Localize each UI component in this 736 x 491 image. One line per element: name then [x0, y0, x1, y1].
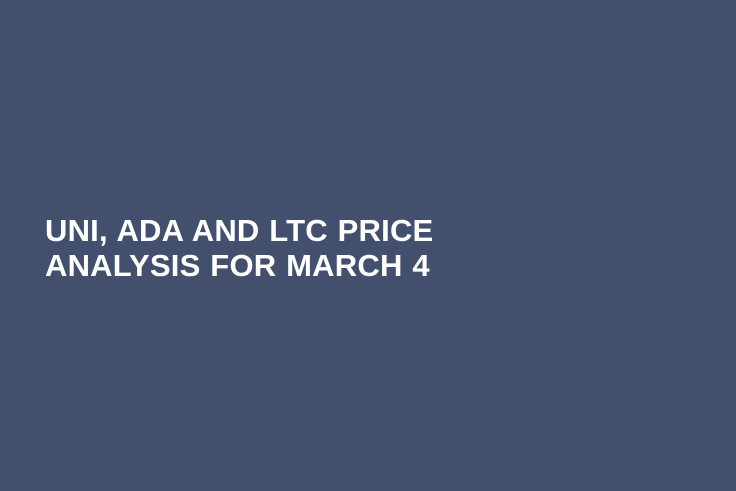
article-headline: UNI, ADA and LTC Price Analysis for Marc…: [45, 213, 505, 283]
article-cover-card: UNI, ADA and LTC Price Analysis for Marc…: [0, 0, 736, 491]
